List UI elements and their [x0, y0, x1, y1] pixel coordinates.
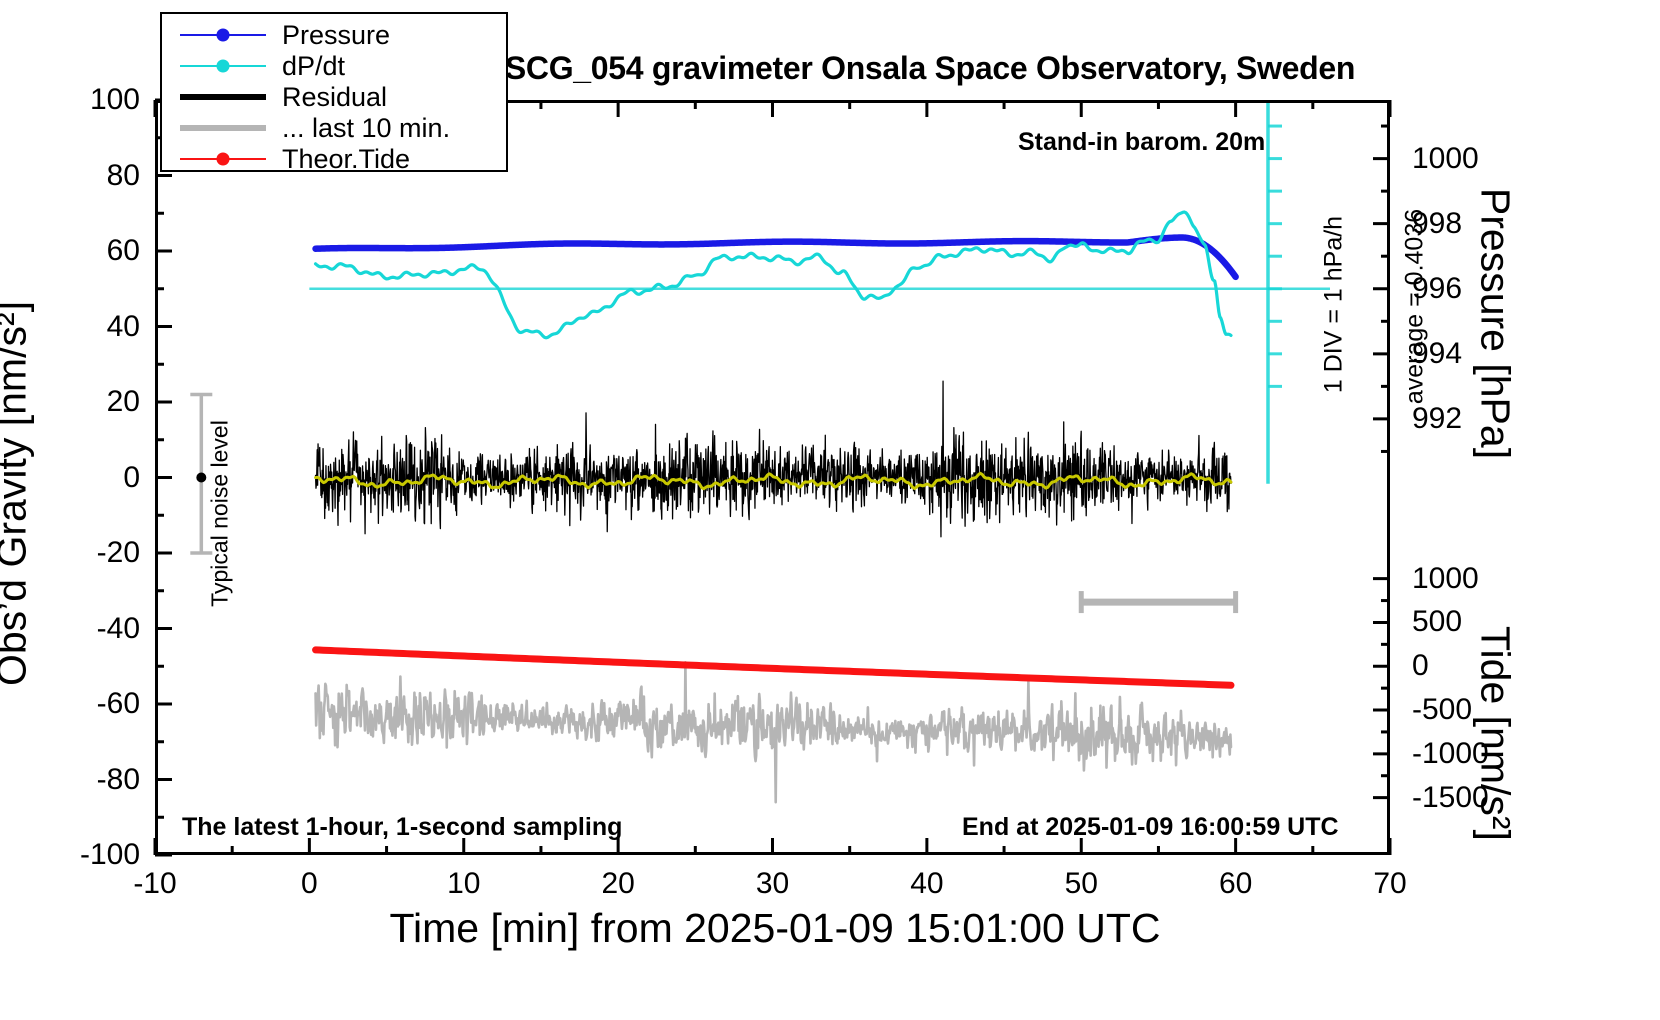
legend-item-theortide: Theor.Tide	[162, 144, 506, 174]
y-tick-label-gravity: 100	[25, 85, 140, 115]
x-tick-label: 60	[1219, 869, 1252, 899]
legend-item-residual: Residual	[162, 82, 506, 112]
annotation-sampling-note: The latest 1-hour, 1-second sampling	[182, 813, 622, 842]
y-tick-label-gravity: -40	[25, 614, 140, 644]
y-axis-title-pressure: Pressure [hPa]	[1472, 154, 1519, 494]
legend-label-residual: Residual	[282, 82, 387, 113]
legend-swatch-dpdt	[180, 51, 266, 81]
legend-swatch-last10	[180, 113, 266, 143]
legend: Pressure dP/dt Residual ... last 10 min.	[160, 12, 508, 172]
y-tick-label-gravity: -60	[25, 689, 140, 719]
x-tick-label: 50	[1065, 869, 1098, 899]
annotation-average: average = 0.4036	[1401, 192, 1430, 422]
y-tick-label-gravity: -100	[25, 840, 140, 870]
legend-label-pressure: Pressure	[282, 20, 390, 51]
legend-item-last10: ... last 10 min.	[162, 113, 506, 143]
y-tick-label-gravity: 20	[25, 387, 140, 417]
x-tick-label: 30	[756, 869, 789, 899]
y-tick-label-tide: 0	[1412, 651, 1429, 681]
x-tick-label: 40	[910, 869, 943, 899]
legend-item-dpdt: dP/dt	[162, 51, 506, 81]
annotation-typical-noise: Typical noise level	[207, 399, 234, 629]
y-tick-label-gravity: 0	[25, 463, 140, 493]
legend-swatch-theortide	[180, 144, 266, 174]
y-tick-label-tide: 1000	[1412, 564, 1479, 594]
y-tick-label-gravity: 40	[25, 312, 140, 342]
x-tick-label: 20	[601, 869, 634, 899]
legend-swatch-pressure	[180, 20, 266, 50]
y-tick-label-gravity: -80	[25, 765, 140, 795]
gravimeter-chart: SCG_054 gravimeter Onsala Space Observat…	[0, 0, 1660, 1020]
y-tick-label-gravity: 80	[25, 161, 140, 191]
x-tick-label: 10	[447, 869, 480, 899]
chart-title: SCG_054 gravimeter Onsala Space Observat…	[430, 50, 1430, 87]
y-tick-label-tide: -500	[1412, 695, 1472, 725]
x-axis-title: Time [min] from 2025-01-09 15:01:00 UTC	[160, 905, 1390, 952]
y-axis-title-gravity: Obs’d Gravity [nm/s²]	[0, 224, 36, 764]
plot-frame	[155, 100, 1390, 855]
x-tick-label: 70	[1373, 869, 1406, 899]
annotation-end-time: End at 2025-01-09 16:00:59 UTC	[962, 813, 1339, 842]
legend-swatch-residual	[180, 82, 266, 112]
y-tick-label-tide: 500	[1412, 607, 1462, 637]
legend-label-last10: ... last 10 min.	[282, 113, 450, 144]
y-tick-label-pressure: 1000	[1412, 144, 1479, 174]
annotation-scale-div: 1 DIV = 1 hPa/h	[1320, 190, 1349, 420]
annotation-stand-in-barometer: Stand-in barom. 20m	[1018, 128, 1265, 157]
x-tick-label: 0	[301, 869, 318, 899]
legend-label-dpdt: dP/dt	[282, 51, 345, 82]
y-tick-label-gravity: -20	[25, 538, 140, 568]
legend-item-pressure: Pressure	[162, 20, 506, 50]
x-tick-label: -10	[133, 869, 176, 899]
legend-label-theortide: Theor.Tide	[282, 144, 410, 175]
y-tick-label-gravity: 60	[25, 236, 140, 266]
y-axis-title-tide: Tide [nm/s²]	[1472, 584, 1519, 884]
